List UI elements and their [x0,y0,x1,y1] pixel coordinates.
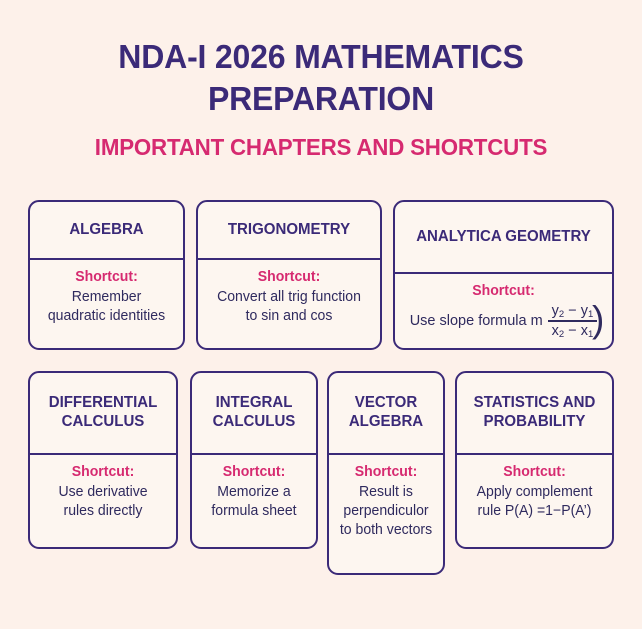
shortcut-label: Shortcut: [466,464,603,480]
slope-fraction: y2 − y1 x2 − x1 ) [548,302,598,340]
card-body: Shortcut: Apply complement rule P(A) =1−… [457,455,612,527]
card-body: Shortcut: Use slope formula m y2 − y1 x2… [395,274,612,346]
shortcut-text-line: Result is [338,483,435,502]
card-body: Shortcut: Memorize a formula sheet [192,455,316,527]
shortcut-text-line: Remember [39,288,174,307]
shortcut-label: Shortcut: [39,269,174,285]
chapter-card-integral-calculus[interactable]: INTEGRAL CALCULUS Shortcut: Memorize a f… [190,371,318,549]
shortcut-label: Shortcut: [338,464,435,480]
shortcut-text-line: to both vectors [338,521,435,540]
shortcut-text-line: rule P(A) =1−P(A’) [466,502,603,521]
card-body: Shortcut: Remember quadratic identities [30,260,183,332]
chapter-card-vector-algebra[interactable]: VECTOR ALGEBRA Shortcut: Result is perpe… [327,371,445,575]
chapter-card-algebra[interactable]: ALGEBRA Shortcut: Remember quadratic ide… [28,200,185,350]
shortcut-label: Shortcut: [405,283,602,299]
denominator-sub-1: 2 [559,329,564,340]
shortcut-text-line: rules directly [39,502,167,521]
chapter-card-statistics-probability[interactable]: STATISTICS AND PROBABILITY Shortcut: App… [455,371,614,549]
shortcut-text-line: to sin and cos [208,307,371,326]
card-body: Shortcut: Convert all trig function to s… [198,260,380,332]
numerator-sub-1: 2 [559,309,564,320]
page-subtitle: IMPORTANT CHAPTERS AND SHORTCUTS [10,134,633,161]
fraction-numerator: y2 − y1 [548,302,598,320]
page-title: NDA-I 2026 MATHEMATICS PREPARATION [93,36,549,120]
card-title: TRIGONOMETRY [201,202,378,258]
card-title: STATISTICS AND PROBABILITY [459,373,609,453]
chapter-card-differential-calculus[interactable]: DIFFERENTIAL CALCULUS Shortcut: Use deri… [28,371,178,549]
shortcut-text-line: Convert all trig function [208,288,371,307]
shortcut-text-line: perpendiculor [338,502,435,521]
chapter-card-trigonometry[interactable]: TRIGONOMETRY Shortcut: Convert all trig … [196,200,382,350]
fraction-denominator: x2 − x1 [548,322,598,340]
shortcut-text-line: Use derivative [39,483,167,502]
shortcut-text-line: Apply complement [466,483,603,502]
closing-paren-glyph: ) [592,301,604,338]
infographic-header: NDA-I 2026 MATHEMATICS PREPARATION IMPOR… [0,0,642,161]
shortcut-text-line: quadratic identities [39,307,174,326]
chapter-card-analytical-geometry[interactable]: ANALYTICA GEOMETRY Shortcut: Use slope f… [393,200,614,350]
shortcut-text-line: Memorize a [201,483,308,502]
card-title: DIFFERENTIAL CALCULUS [32,373,174,453]
shortcut-label: Shortcut: [39,464,167,480]
card-title: ANALYTICA GEOMETRY [398,202,608,272]
shortcut-label: Shortcut: [208,269,371,285]
shortcut-text-line: formula sheet [201,502,308,521]
card-title: VECTOR ALGEBRA [331,373,442,453]
shortcut-label: Shortcut: [201,464,308,480]
card-body: Shortcut: Use derivative rules directly [30,455,176,527]
slope-formula: Use slope formula m y2 − y1 x2 − x1 ) [402,302,605,340]
card-body: Shortcut: Result is perpendiculor to bot… [329,455,443,546]
card-title: INTEGRAL CALCULUS [194,373,314,453]
formula-prefix: Use slope formula m [410,312,543,330]
card-title: ALGEBRA [32,202,180,258]
